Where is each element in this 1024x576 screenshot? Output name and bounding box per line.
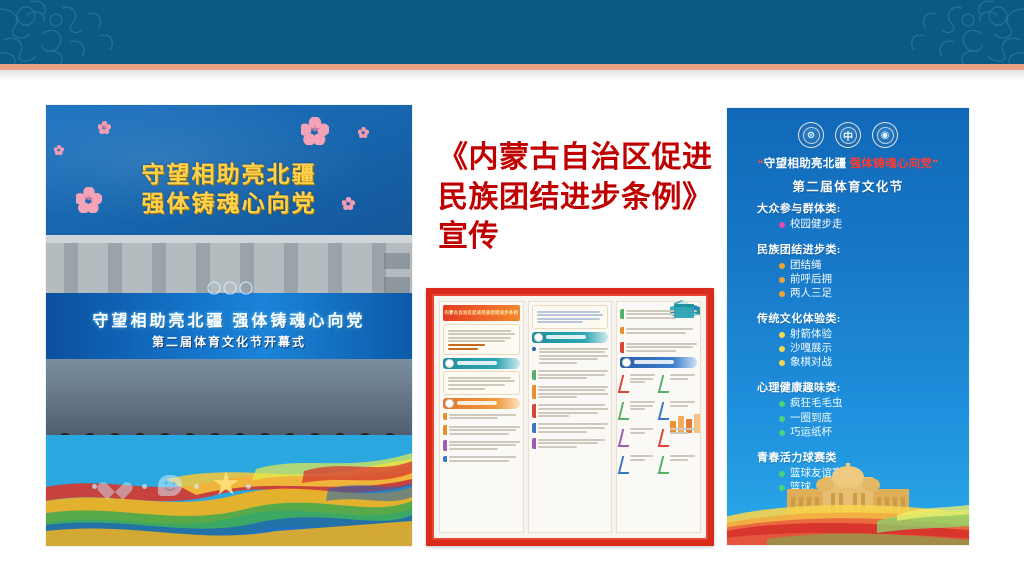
university-emblem-icon: ⊙ bbox=[798, 122, 824, 148]
infographic-list-item bbox=[532, 384, 609, 400]
infographic-column-2 bbox=[528, 301, 613, 533]
infographic-list-item bbox=[532, 369, 609, 381]
banner-shadow bbox=[0, 70, 1024, 80]
infographic-section-1 bbox=[443, 358, 520, 395]
law-book-icon bbox=[668, 301, 701, 320]
infographic-checkmark-item bbox=[660, 425, 696, 449]
poster-title-part-2: 强体铸魂心向党 bbox=[850, 158, 933, 170]
photo-header-text: 守望相助亮北疆 强体铸魂心向党 bbox=[46, 160, 412, 219]
infographic-quote-card bbox=[443, 324, 520, 355]
infographic-checkmark-item bbox=[660, 398, 696, 422]
poster-list-item: 团结绳 bbox=[757, 259, 955, 273]
poster-category-heading: 心理健康趣味类: bbox=[757, 379, 955, 395]
infographic-list-item bbox=[443, 412, 520, 421]
banner-floral-right-icon bbox=[874, 0, 1024, 64]
poster-list-item: 巧运纸杯 bbox=[757, 426, 955, 440]
poster-footer-decoration bbox=[727, 459, 969, 545]
stage-banner-title: 守望相助亮北疆 强体铸魂心向党 bbox=[46, 307, 412, 331]
union-emblem-icon: 中 bbox=[835, 122, 861, 148]
infographic-list-item bbox=[443, 455, 520, 464]
page-title-line-2: 民族团结进步条例》 bbox=[438, 178, 700, 218]
poster-list-item: 沙嘎展示 bbox=[757, 342, 955, 356]
poster-subtitle: 第二届体育文化节 bbox=[727, 176, 969, 195]
infographic-section-3 bbox=[532, 332, 609, 450]
section-header-1 bbox=[443, 358, 520, 369]
crowd-of-performers bbox=[46, 347, 412, 435]
poster-category-heading: 传统文化体验类: bbox=[757, 310, 955, 326]
infographic-title-banner: 内蒙古自治区促进民族团结进步条例 bbox=[443, 305, 520, 321]
section-header-3 bbox=[532, 332, 609, 343]
poster-list-item: 两人三足 bbox=[757, 287, 955, 301]
infographic-list-item bbox=[443, 424, 520, 436]
poster-list-item: 一圈到底 bbox=[757, 412, 955, 426]
banner-floral-left-icon bbox=[0, 0, 150, 64]
poster-list-item: 疯狂毛毛虫 bbox=[757, 397, 955, 411]
poster-list-item: 前呼后拥 bbox=[757, 273, 955, 287]
blossom-icon bbox=[301, 117, 329, 145]
bullet-dot-icon bbox=[779, 430, 785, 436]
bullet-dot-icon bbox=[779, 401, 785, 407]
infographic-checkmark-item bbox=[660, 371, 696, 395]
page-title-line-3: 宣传 bbox=[438, 217, 700, 257]
poster-title: “守望相助亮北疆 强体铸魂心向党” bbox=[727, 158, 969, 171]
section-header-2 bbox=[443, 398, 520, 409]
poster-title-quote-close: ” bbox=[932, 158, 938, 170]
infographic-checkmark-item bbox=[660, 452, 696, 476]
infographic-intro-card bbox=[532, 305, 609, 329]
infographic-list-item bbox=[620, 341, 697, 353]
poster-title-part-1: 守望相助亮北疆 bbox=[764, 158, 847, 170]
photo-footer-ribbons bbox=[46, 435, 412, 546]
infographic-list-item bbox=[532, 403, 609, 419]
poster-category: 大众参与群体类: 校园健步走 bbox=[757, 200, 955, 232]
poster-category: 心理健康趣味类: 疯狂毛毛虫 一圈到底 巧运纸杯 bbox=[757, 379, 955, 439]
sports-culture-festival-poster: ⊙ 中 ◉ “守望相助亮北疆 强体铸魂心向党” 第二届体育文化节 大众参与群体类… bbox=[727, 108, 969, 545]
poster-category-heading: 民族团结进步类: bbox=[757, 241, 955, 257]
smile-icon bbox=[158, 475, 182, 496]
infographic-checkmark-item bbox=[620, 452, 656, 476]
infographic-list-item bbox=[532, 437, 609, 449]
infographic-checkmark-item bbox=[620, 371, 656, 395]
infographic-column-1: 内蒙古自治区促进民族团结进步条例 bbox=[439, 301, 524, 533]
poster-category-heading: 大众参与群体类: bbox=[757, 200, 955, 216]
page-title: 《内蒙古自治区促进 民族团结进步条例》 宣传 bbox=[438, 138, 700, 257]
poster-list-item: 象棋对战 bbox=[757, 356, 955, 370]
top-banner bbox=[0, 0, 1024, 64]
photo-header-banner: 守望相助亮北疆 强体铸魂心向党 bbox=[46, 105, 412, 235]
poster-logos: ⊙ 中 ◉ bbox=[727, 122, 969, 148]
infographic-list-item bbox=[532, 422, 609, 434]
infographic-list-item bbox=[443, 439, 520, 451]
poster-category: 民族团结进步类: 团结绳 前呼后拥 两人三足 bbox=[757, 241, 955, 301]
bullet-dot-icon bbox=[779, 222, 785, 228]
bullet-dot-icon bbox=[779, 360, 785, 366]
bullet-dot-icon bbox=[779, 263, 785, 269]
bullet-dot-icon bbox=[779, 291, 785, 297]
infographic-checkmark-item bbox=[620, 425, 656, 449]
event-photo-collage: 守望相助亮北疆 强体铸魂心向党 bbox=[46, 105, 412, 546]
slide-canvas: 《内蒙古自治区促进 民族团结进步条例》 宣传 bbox=[0, 0, 1024, 576]
globe-emblem-icon: ◉ bbox=[872, 122, 898, 148]
bullet-dot-icon bbox=[779, 416, 785, 422]
blossom-icon bbox=[98, 121, 111, 134]
poster-list-item: 校园健步走 bbox=[757, 218, 955, 232]
infographic-list-item bbox=[620, 326, 697, 335]
infographic-list-item bbox=[532, 346, 609, 366]
infographic-column-3 bbox=[616, 301, 701, 533]
bullet-dot-icon bbox=[779, 346, 785, 352]
section-header-4 bbox=[620, 357, 697, 368]
infographic-section-2 bbox=[443, 398, 520, 463]
blossom-icon bbox=[54, 145, 64, 155]
infographic-checkmark-item bbox=[620, 398, 656, 422]
infographic-section-4 bbox=[620, 357, 697, 476]
bullet-dot-icon bbox=[779, 332, 785, 338]
regulation-infographic: 内蒙古自治区促进民族团结进步条例 bbox=[426, 288, 714, 546]
heart-icon bbox=[104, 475, 126, 495]
photo-header-line-2: 强体铸魂心向党 bbox=[46, 189, 412, 218]
page-title-line-1: 《内蒙古自治区促进 bbox=[438, 138, 700, 178]
blossom-icon bbox=[358, 127, 369, 138]
bullet-dot-icon bbox=[779, 277, 785, 283]
poster-category: 传统文化体验类: 射箭体验 沙嘎展示 象棋对战 bbox=[757, 310, 955, 370]
poster-list-item: 射箭体验 bbox=[757, 328, 955, 342]
photo-header-line-1: 守望相助亮北疆 bbox=[46, 160, 412, 189]
photo-group-picture: 守望相助亮北疆 强体铸魂心向党 第二届体育文化节开幕式 bbox=[46, 235, 412, 435]
